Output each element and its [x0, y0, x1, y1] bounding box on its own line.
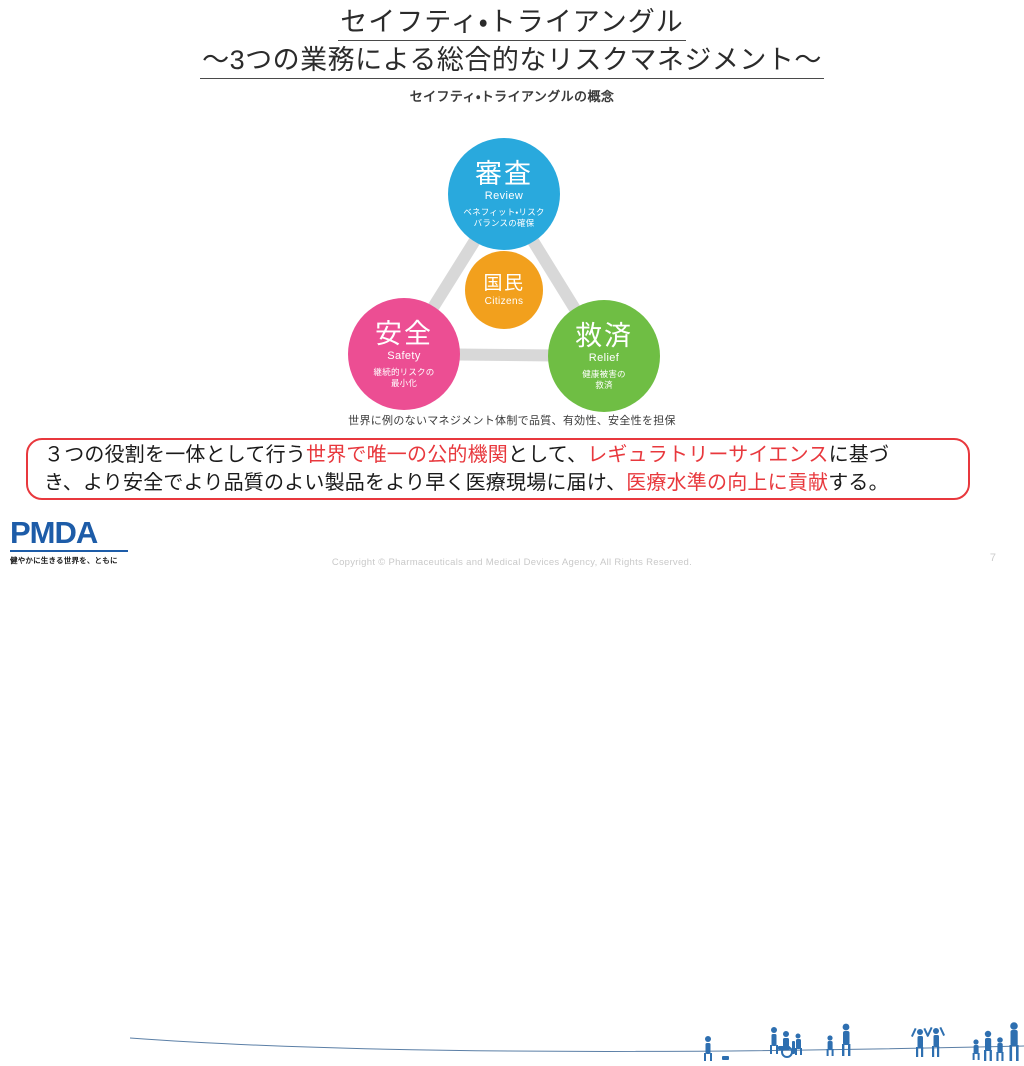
copyright-text: Copyright © Pharmaceuticals and Medical … [0, 557, 1024, 568]
node-review-jp: 審査 [475, 159, 533, 189]
slide-title: セイフティ・トライアングル 〜3つの業務による総合的なリスクマネジメント〜 [0, 6, 1024, 79]
node-relief-jp: 救済 [575, 321, 633, 351]
callout-l1-part1: ３つの役割を一体として行う [44, 444, 306, 466]
title-line-1-wrap: セイフティ・トライアングル [0, 6, 1024, 41]
title-line-2-wrap: 〜3つの業務による総合的なリスクマネジメント〜 [0, 41, 1024, 79]
slide-subtitle: セイフティ・トライアングルの概念 [0, 86, 1024, 105]
node-safety[interactable]: 安全 Safety 継続的リスクの 最小化 [348, 298, 460, 410]
node-review-desc-2: バランスの確保 [474, 218, 535, 229]
safety-triangle-diagram: 審査 Review ベネフィット・リスク バランスの確保 安全 Safety 継… [330, 120, 695, 405]
callout-line-2: き、より安全でより品質のよい製品をより早く医療現場に届け、医療水準の向上に貢献す… [44, 469, 952, 497]
node-citizens-en: Citizens [485, 296, 524, 307]
node-citizens[interactable]: 国民 Citizens [465, 251, 543, 329]
title-line-2: 〜3つの業務による総合的なリスクマネジメント〜 [200, 43, 824, 79]
node-safety-desc-1: 継続的リスクの [374, 367, 435, 378]
diagram-caption: 世界に例のないマネジメント体制で品質、有効性、安全性を担保 [0, 412, 1024, 428]
node-relief-desc-2: 救済 [595, 380, 612, 391]
node-relief-desc-1: 健康被害の [582, 369, 626, 380]
callout-l1-highlight-1: 世界で唯一の公的機関 [306, 444, 508, 466]
callout-l2-part2: する。 [828, 472, 889, 494]
callout-box: ３つの役割を一体として行う世界で唯一の公的機関として、レギュラトリーサイエンスに… [26, 438, 970, 500]
pmda-logo-rule [10, 550, 128, 552]
pmda-logo-wordmark: PMDA [10, 517, 135, 549]
node-relief[interactable]: 救済 Relief 健康被害の 救済 [548, 300, 660, 412]
callout-l2-highlight-1: 医療水準の向上に貢献 [626, 472, 828, 494]
title-line-1: セイフティ・トライアングル [338, 6, 685, 41]
callout-l1-part2: として、 [508, 444, 587, 466]
node-safety-en: Safety [387, 350, 421, 362]
callout-l1-part3: に基づ [829, 444, 890, 466]
node-relief-en: Relief [589, 352, 620, 364]
page-number: 7 [990, 552, 996, 564]
node-safety-desc-2: 最小化 [391, 378, 417, 389]
node-safety-jp: 安全 [375, 319, 433, 349]
node-review-en: Review [485, 190, 523, 202]
people-silhouettes-icon [130, 1016, 1024, 1066]
callout-line-1: ３つの役割を一体として行う世界で唯一の公的機関として、レギュラトリーサイエンスに… [44, 441, 952, 469]
node-review-desc-1: ベネフィット・リスク [463, 207, 544, 218]
node-review[interactable]: 審査 Review ベネフィット・リスク バランスの確保 [448, 138, 560, 250]
node-citizens-jp: 国民 [483, 273, 524, 294]
callout-l2-part1: き、より安全でより品質のよい製品をより早く医療現場に届け、 [44, 472, 626, 494]
callout-l1-highlight-2: レギュラトリーサイエンス [587, 444, 828, 466]
